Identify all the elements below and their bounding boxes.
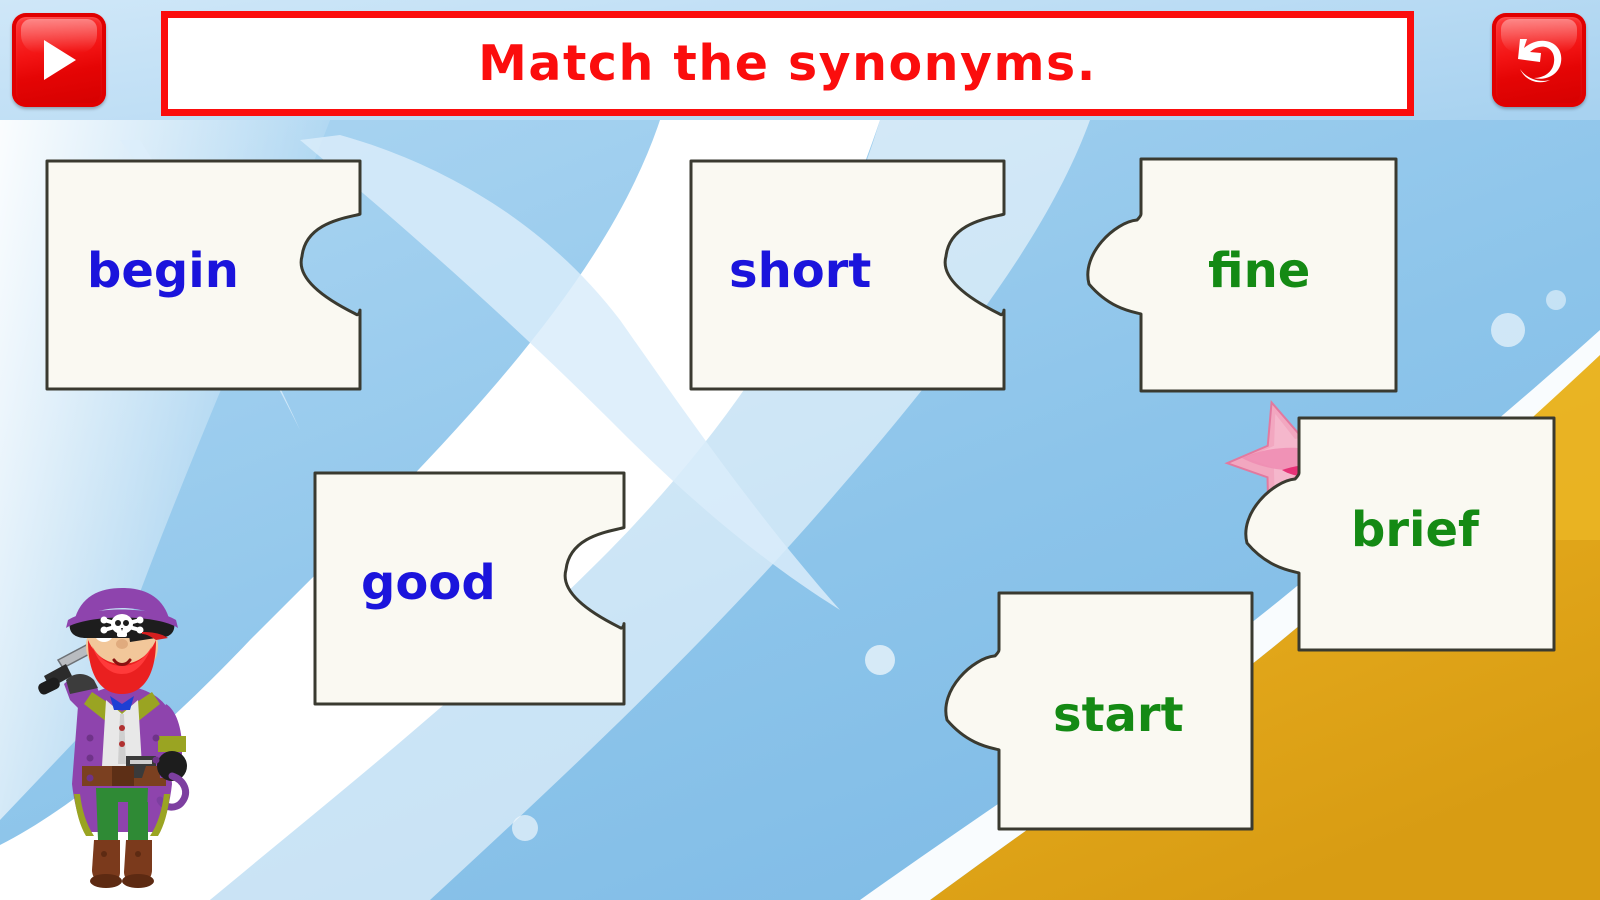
undo-icon	[1510, 31, 1568, 89]
puzzle-piece-begin[interactable]: begin	[47, 161, 360, 389]
puzzle-piece-shape	[691, 161, 1004, 389]
page-title: Match the synonyms.	[478, 35, 1097, 92]
puzzle-piece-shape	[315, 473, 624, 704]
top-toolbar: Match the synonyms.	[0, 0, 1600, 125]
puzzle-piece-shape	[941, 593, 1252, 829]
puzzle-piece-short[interactable]: short	[691, 161, 1004, 389]
play-button[interactable]	[12, 13, 106, 107]
instruction-banner: Match the synonyms.	[161, 11, 1414, 116]
puzzle-piece-shape	[47, 161, 360, 389]
game-stage: beginshortfinegoodbriefstart	[0, 0, 1600, 900]
puzzle-piece-start[interactable]: start	[941, 593, 1252, 829]
puzzle-piece-shape	[1241, 418, 1554, 650]
puzzle-piece-brief[interactable]: brief	[1241, 418, 1554, 650]
puzzle-piece-fine[interactable]: fine	[1083, 159, 1396, 391]
play-icon	[37, 37, 81, 83]
puzzle-piece-good[interactable]: good	[315, 473, 624, 704]
pirate-character	[30, 588, 215, 888]
puzzle-piece-shape	[1083, 159, 1396, 391]
reset-button[interactable]	[1492, 13, 1586, 107]
